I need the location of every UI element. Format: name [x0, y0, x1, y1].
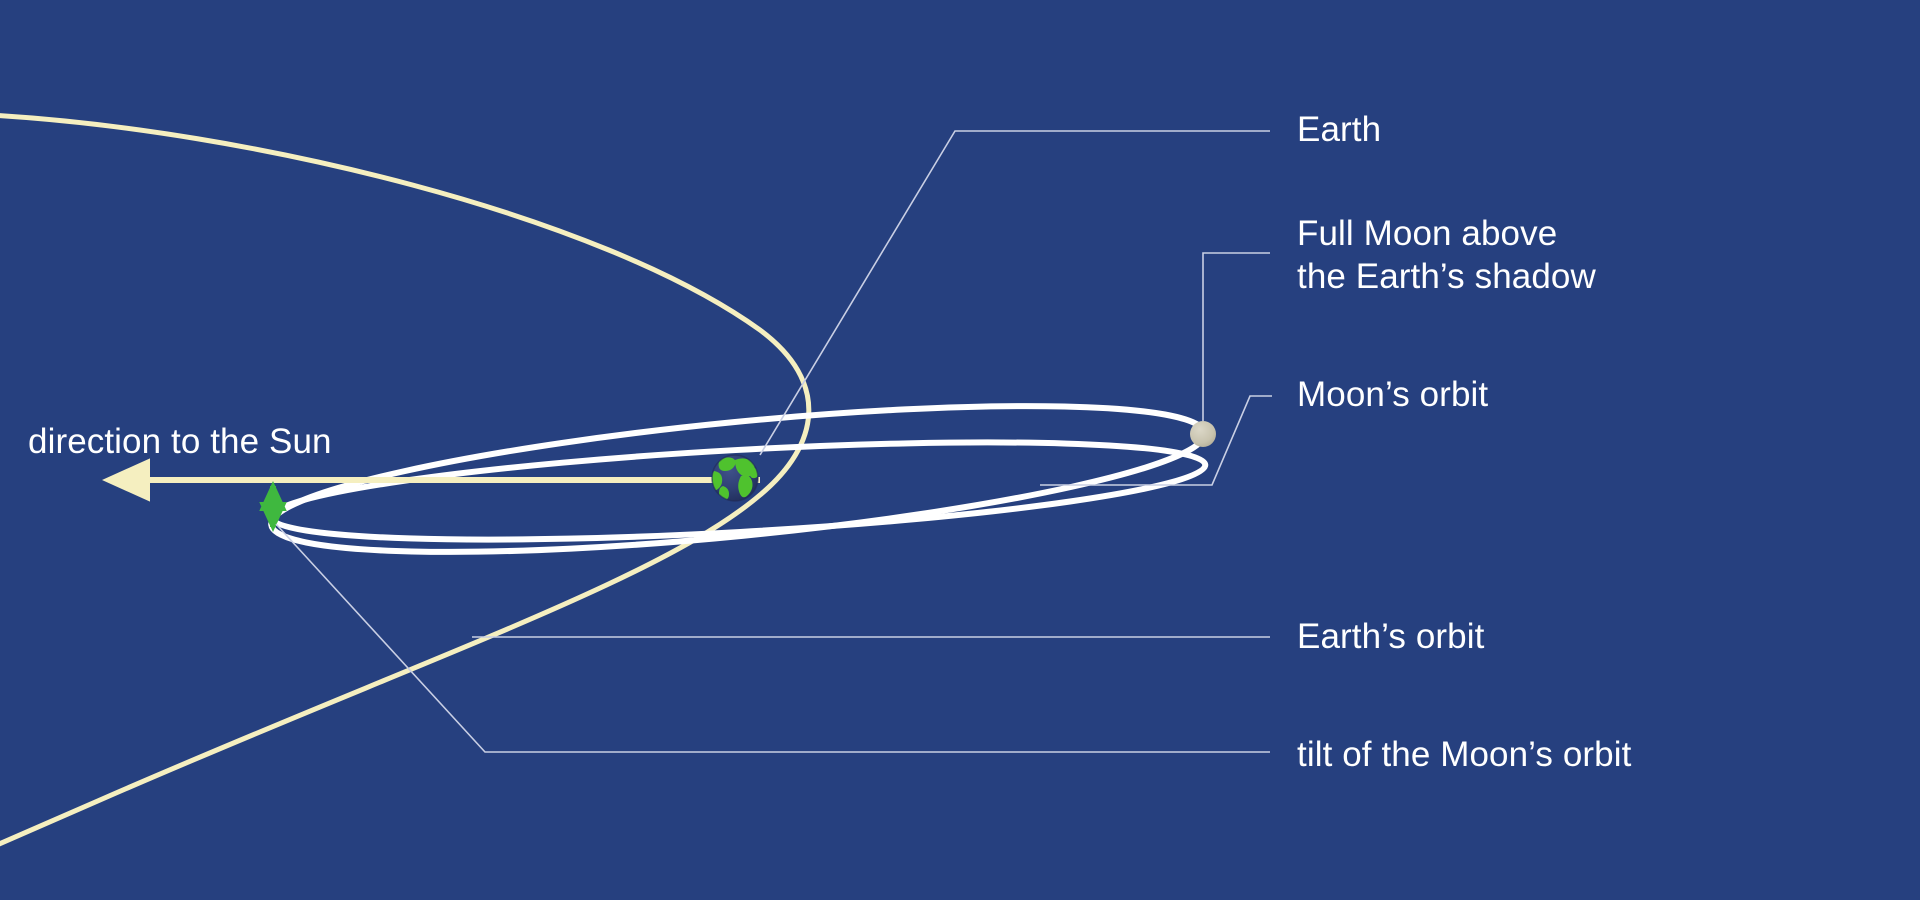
full-moon — [1190, 421, 1216, 447]
label-full-moon-above-earths-shadow: Full Moon abovethe Earth’s shadow — [1297, 212, 1596, 298]
label-moons-orbit: Moon’s orbit — [1297, 373, 1488, 416]
label-full-moon-line1: Full Moon above — [1297, 214, 1557, 253]
label-direction-to-the-sun: direction to the Sun — [28, 420, 332, 463]
label-earth: Earth — [1297, 108, 1381, 151]
label-tilt-of-moons-orbit: tilt of the Moon’s orbit — [1297, 733, 1631, 776]
diagram-canvas: Earth Full Moon abovethe Earth’s shadow … — [0, 0, 1920, 900]
label-earths-orbit: Earth’s orbit — [1297, 615, 1484, 658]
label-full-moon-line2: the Earth’s shadow — [1297, 257, 1596, 296]
earth-globe — [711, 455, 758, 501]
